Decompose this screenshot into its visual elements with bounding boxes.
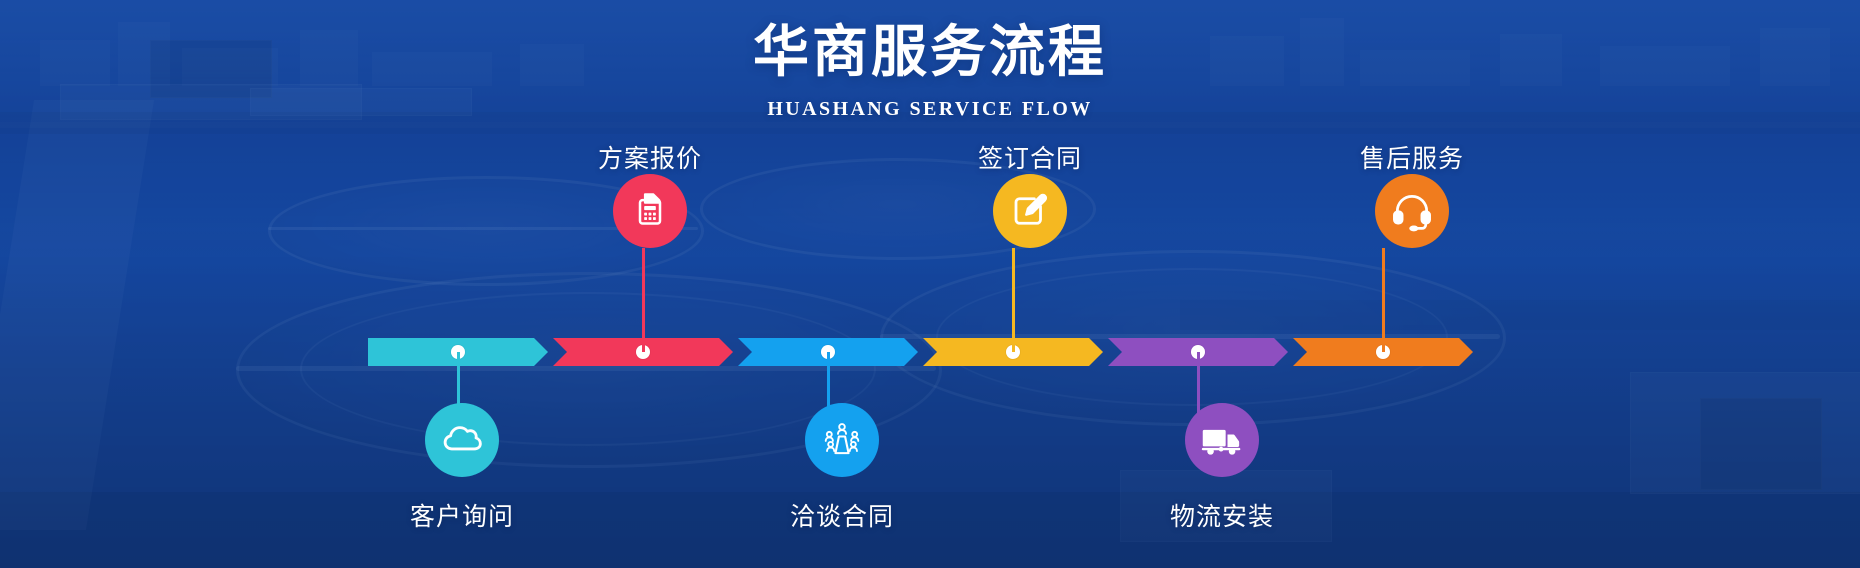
headset-support-icon[interactable] <box>1375 174 1449 248</box>
flow-step-label-3: 洽谈合同 <box>722 497 962 533</box>
flow-connector-line-4 <box>1012 248 1015 352</box>
flow-connector-line-6 <box>1382 248 1385 352</box>
flow-step-label-6: 售后服务 <box>1292 139 1532 175</box>
delivery-truck-icon[interactable] <box>1185 403 1259 477</box>
service-flow-banner: 华商服务流程 HUASHANG SERVICE FLOW 客户询问方案报价洽谈合… <box>0 0 1860 568</box>
pen-sign-icon[interactable] <box>993 174 1067 248</box>
flow-step-label-1: 客户询问 <box>342 497 582 533</box>
calculator-quote-icon[interactable] <box>613 174 687 248</box>
flow-step-label-2: 方案报价 <box>530 139 770 175</box>
meeting-table-icon[interactable] <box>805 403 879 477</box>
flow-step-label-4: 签订合同 <box>910 139 1150 175</box>
page-subtitle: HUASHANG SERVICE FLOW <box>0 98 1860 121</box>
page-title: 华商服务流程 <box>0 0 1860 88</box>
banner-header: 华商服务流程 HUASHANG SERVICE FLOW <box>0 0 1860 121</box>
cloud-chat-icon[interactable] <box>425 403 499 477</box>
flow-connector-line-2 <box>642 248 645 352</box>
flow-step-label-5: 物流安装 <box>1102 497 1342 533</box>
